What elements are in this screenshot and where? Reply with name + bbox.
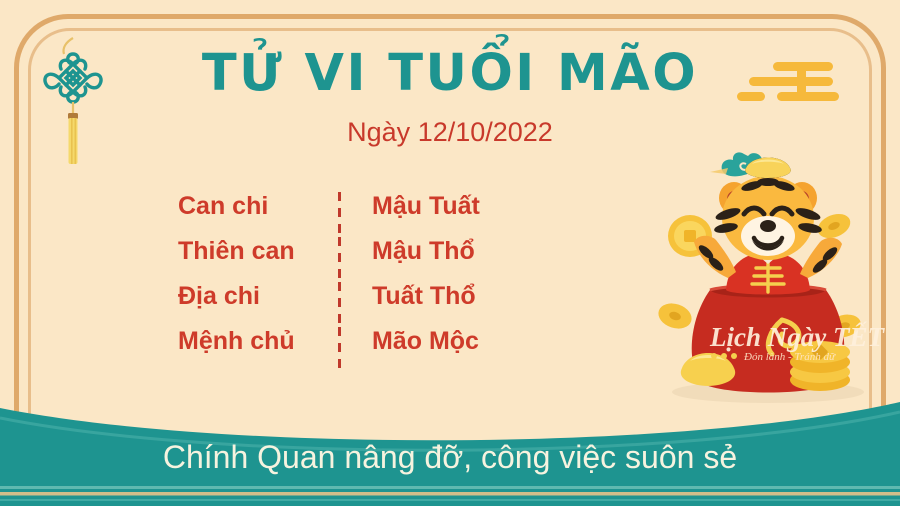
page-title: TỬ VI TUỔI MÃO bbox=[0, 44, 900, 103]
row-value: Tuất Thổ bbox=[350, 282, 538, 311]
gold-coin bbox=[814, 209, 854, 242]
row-label: Địa chi bbox=[178, 282, 328, 311]
banner-message: Chính Quan nâng đỡ, công việc suôn sẻ bbox=[0, 439, 900, 476]
table-row: Địa chi Tuất Thổ bbox=[178, 282, 538, 327]
tiger-arm-left bbox=[694, 236, 736, 278]
row-value: Mậu Tuất bbox=[350, 192, 538, 221]
brand-text: Lịch Ngày TẾT bbox=[709, 321, 885, 352]
dashed-divider bbox=[328, 237, 350, 282]
row-label: Mệnh chủ bbox=[178, 327, 328, 356]
horoscope-card: TỬ VI TUỔI MÃO Ngày 12/10/2022 Can chi M… bbox=[0, 0, 900, 506]
tiger-mascot-illustration: Lịch Ngày TẾT Đón lành - Tránh dữ bbox=[648, 140, 888, 410]
dashed-divider bbox=[328, 192, 350, 237]
table-row: Thiên can Mậu Thổ bbox=[178, 237, 538, 282]
row-label: Thiên can bbox=[178, 237, 328, 266]
zodiac-info-table: Can chi Mậu Tuất Thiên can Mậu Thổ Địa c… bbox=[178, 192, 538, 372]
brand-tagline: Đón lành - Tránh dữ bbox=[743, 351, 836, 363]
table-row: Mệnh chủ Mão Mộc bbox=[178, 327, 538, 372]
dashed-divider bbox=[328, 327, 350, 372]
tiger-arm-right bbox=[800, 238, 842, 278]
tiger-nose bbox=[760, 220, 776, 232]
table-row: Can chi Mậu Tuất bbox=[178, 192, 538, 237]
brand-watermark: Lịch Ngày TẾT Đón lành - Tránh dữ bbox=[709, 321, 885, 363]
row-value: Mão Mộc bbox=[350, 327, 538, 356]
dashed-divider bbox=[328, 282, 350, 327]
row-label: Can chi bbox=[178, 192, 328, 221]
gold-coin bbox=[655, 299, 695, 332]
row-value: Mậu Thổ bbox=[350, 237, 538, 266]
